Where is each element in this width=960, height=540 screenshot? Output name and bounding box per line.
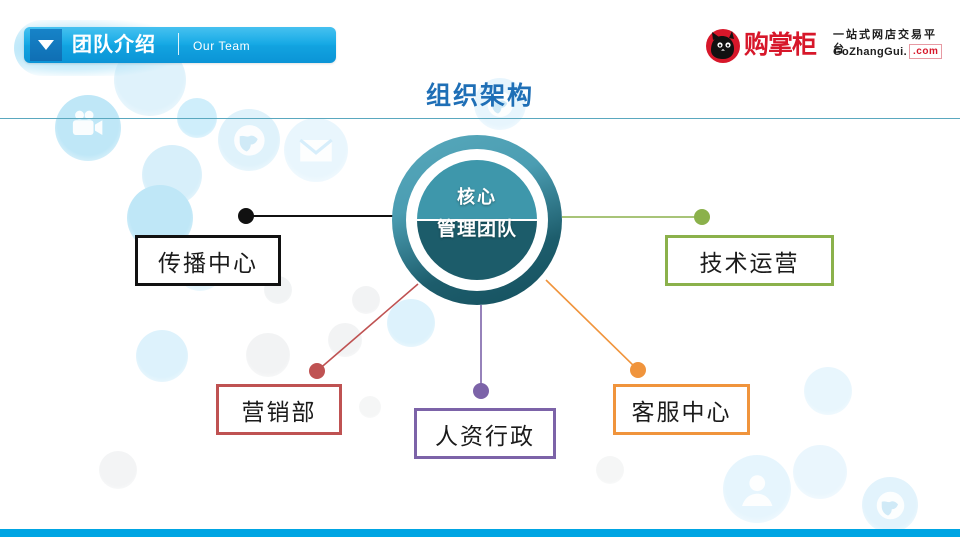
connector-dot-yingxiao: [309, 363, 325, 379]
node-renzi-xingzheng[interactable]: 人资行政: [414, 408, 556, 459]
connector-dot-chuanbo: [238, 208, 254, 224]
hub-label-line2: 管理团队: [417, 218, 537, 242]
connector-dot-jishu: [694, 209, 710, 225]
node-kefu-zhongxin[interactable]: 客服中心: [613, 384, 750, 435]
hub-label-line1: 核心: [417, 186, 537, 208]
slide-canvas: 团队介绍 Our Team 购掌柜 一站式网店交易平台 GoZhangGui. …: [0, 0, 960, 540]
node-yingxiao-bu[interactable]: 营销部: [216, 384, 342, 435]
hub-inner-disc: 核心 管理团队: [417, 160, 537, 280]
connector-dot-kefu: [630, 362, 646, 378]
hub-core-management-team: 核心 管理团队: [392, 135, 562, 305]
node-chuanbo-zhongxin[interactable]: 传播中心: [135, 235, 281, 286]
bottom-accent-bar: [0, 529, 960, 537]
node-jishu-yunying[interactable]: 技术运营: [665, 235, 834, 286]
connector-dot-renzi: [473, 383, 489, 399]
